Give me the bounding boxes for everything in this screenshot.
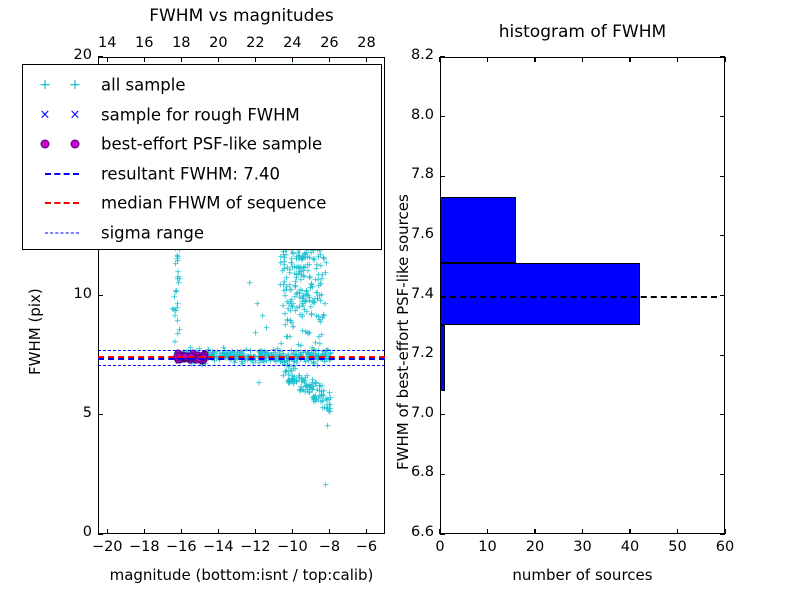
- legend-item-label: sample for rough FWHM: [101, 105, 300, 124]
- scatter-point-all-sample: +: [301, 306, 309, 315]
- scatter-point-all-sample: +: [255, 379, 263, 388]
- scatter-point-all-sample: +: [257, 347, 265, 356]
- cross-marker-icon: ×: [40, 107, 51, 122]
- left-plot-xlabel: magnitude (bottom:isnt / top:calib): [98, 566, 385, 584]
- dashed-line-icon: [45, 202, 79, 204]
- x-tick-label: 10: [470, 539, 506, 555]
- x-tick-label-top: 20: [200, 35, 236, 51]
- y-tick-label: 8.0: [392, 107, 434, 123]
- scatter-point-all-sample: +: [176, 327, 184, 336]
- scatter-point-all-sample: +: [246, 279, 254, 288]
- reference-line-resultant-fwhm: [440, 296, 717, 298]
- scatter-point-all-sample: +: [280, 373, 288, 382]
- x-tick-label: 0: [422, 539, 458, 555]
- reference-line-sigma-range-lower: [98, 365, 385, 366]
- scatter-point-all-sample: +: [277, 341, 285, 350]
- scatter-point-all-sample: +: [308, 344, 316, 353]
- scatter-point-all-sample: +: [295, 290, 303, 299]
- y-tick-label: 10: [54, 286, 92, 302]
- x-tick-label-bottom: −20: [89, 539, 125, 555]
- right-plot-ylabel: FWHM of best-effort PSF-like sources: [394, 194, 412, 470]
- scatter-point-all-sample: +: [315, 396, 323, 405]
- legend-item-5[interactable]: sigma range: [23, 218, 381, 248]
- figure-canvas: FWHM vs magnitudes 1416182022242628 −20−…: [0, 0, 800, 600]
- legend-item-label: resultant FWHM: 7.40: [101, 164, 280, 183]
- scatter-point-all-sample: +: [308, 311, 316, 320]
- histogram-bar: [440, 325, 445, 391]
- x-tick-label-top: 18: [163, 35, 199, 51]
- scatter-point-all-sample: +: [174, 258, 182, 267]
- scatter-point-all-sample: +: [174, 276, 182, 285]
- plot-legend[interactable]: ++all sample××sample for rough FWHMbest-…: [22, 64, 382, 250]
- y-tick-label: 20: [54, 47, 92, 63]
- scatter-point-all-sample: +: [299, 254, 307, 263]
- x-tick-label-top: 16: [126, 35, 162, 51]
- legend-item-label: all sample: [101, 76, 186, 95]
- histogram-data-layer: [440, 57, 725, 534]
- scatter-point-all-sample: +: [322, 482, 330, 491]
- scatter-point-all-sample: +: [324, 422, 332, 431]
- legend-item-label: median FHWM of sequence: [101, 194, 326, 213]
- left-plot-ylabel: FWHM (pix): [26, 288, 44, 375]
- reference-line-median-fhwm-of-sequence: [98, 356, 385, 358]
- plus-marker-icon: +: [69, 77, 81, 93]
- legend-item-1[interactable]: ××sample for rough FWHM: [23, 100, 381, 130]
- y-tick-label: 5: [54, 405, 92, 421]
- scatter-point-all-sample: +: [172, 289, 180, 298]
- scatter-point-all-sample: +: [315, 334, 323, 343]
- circle-marker-icon: [71, 140, 80, 149]
- x-tick-label: 20: [517, 539, 553, 555]
- scatter-point-all-sample: +: [171, 339, 179, 348]
- x-tick-label-top: 14: [89, 35, 125, 51]
- y-tick-label: 6.6: [392, 524, 434, 540]
- scatter-point-all-sample: +: [296, 386, 304, 395]
- x-tick-label-bottom: −12: [237, 539, 273, 555]
- cross-marker-icon: ×: [70, 107, 81, 122]
- scatter-point-all-sample: +: [289, 251, 297, 260]
- scatter-point-all-sample: +: [295, 269, 303, 278]
- x-tick-label: 40: [612, 539, 648, 555]
- scatter-point-all-sample: +: [320, 255, 328, 264]
- legend-item-0[interactable]: ++all sample: [23, 70, 381, 100]
- x-tick-label: 60: [707, 539, 743, 555]
- legend-item-label: sigma range: [101, 223, 204, 242]
- legend-item-4[interactable]: median FHWM of sequence: [23, 188, 381, 218]
- y-tick-label: 0: [54, 524, 92, 540]
- x-tick-label-top: 24: [274, 35, 310, 51]
- scatter-point-all-sample: +: [302, 374, 310, 383]
- x-tick-label-top: 22: [237, 35, 273, 51]
- x-tick-label-bottom: −14: [200, 539, 236, 555]
- y-tick-label: 8.2: [392, 47, 434, 63]
- scatter-point-all-sample: +: [311, 296, 319, 305]
- scatter-point-all-sample: +: [286, 266, 294, 275]
- scatter-point-all-sample: +: [310, 257, 318, 266]
- histogram-bar: [440, 197, 516, 263]
- scatter-point-all-sample: +: [317, 281, 325, 290]
- x-tick-label-bottom: −6: [348, 539, 384, 555]
- scatter-point-all-sample: +: [309, 379, 317, 388]
- legend-item-2[interactable]: best-effort PSF-like sample: [23, 129, 381, 159]
- reference-line-sigma-range-upper: [98, 350, 385, 351]
- scatter-point-all-sample: +: [326, 409, 334, 418]
- scatter-point-all-sample: +: [302, 329, 310, 338]
- x-tick-label-bottom: −18: [126, 539, 162, 555]
- x-tick-label-top: 26: [311, 35, 347, 51]
- histogram-bar: [440, 263, 640, 326]
- scatter-point-all-sample: +: [287, 317, 295, 326]
- scatter-point-all-sample: +: [288, 302, 296, 311]
- x-tick-label-top: 28: [348, 35, 384, 51]
- dashdot-line-icon: [45, 232, 79, 233]
- x-tick-label: 50: [660, 539, 696, 555]
- x-tick-label-bottom: −8: [311, 539, 347, 555]
- right-plot-title: histogram of FWHM: [440, 22, 725, 42]
- x-tick-label-bottom: −16: [163, 539, 199, 555]
- scatter-point-all-sample: +: [263, 324, 271, 333]
- scatter-point-all-sample: +: [252, 329, 260, 338]
- legend-item-label: best-effort PSF-like sample: [101, 135, 322, 154]
- x-tick-label-bottom: −10: [274, 539, 310, 555]
- y-tick-label: 7.8: [392, 166, 434, 182]
- scatter-point-all-sample: +: [259, 312, 267, 321]
- scatter-point-all-sample: +: [305, 389, 313, 398]
- scatter-point-all-sample: +: [276, 281, 284, 290]
- scatter-point-all-sample: +: [307, 284, 315, 293]
- legend-item-3[interactable]: resultant FWHM: 7.40: [23, 159, 381, 189]
- plus-marker-icon: +: [39, 77, 51, 93]
- x-tick-label: 30: [565, 539, 601, 555]
- right-plot-xlabel: number of sources: [440, 566, 725, 584]
- scatter-point-all-sample: +: [253, 301, 261, 310]
- circle-marker-icon: [41, 140, 50, 149]
- dashed-line-icon: [45, 173, 79, 175]
- scatter-point-all-sample: +: [319, 314, 327, 323]
- left-plot-title: FWHM vs magnitudes: [98, 6, 385, 26]
